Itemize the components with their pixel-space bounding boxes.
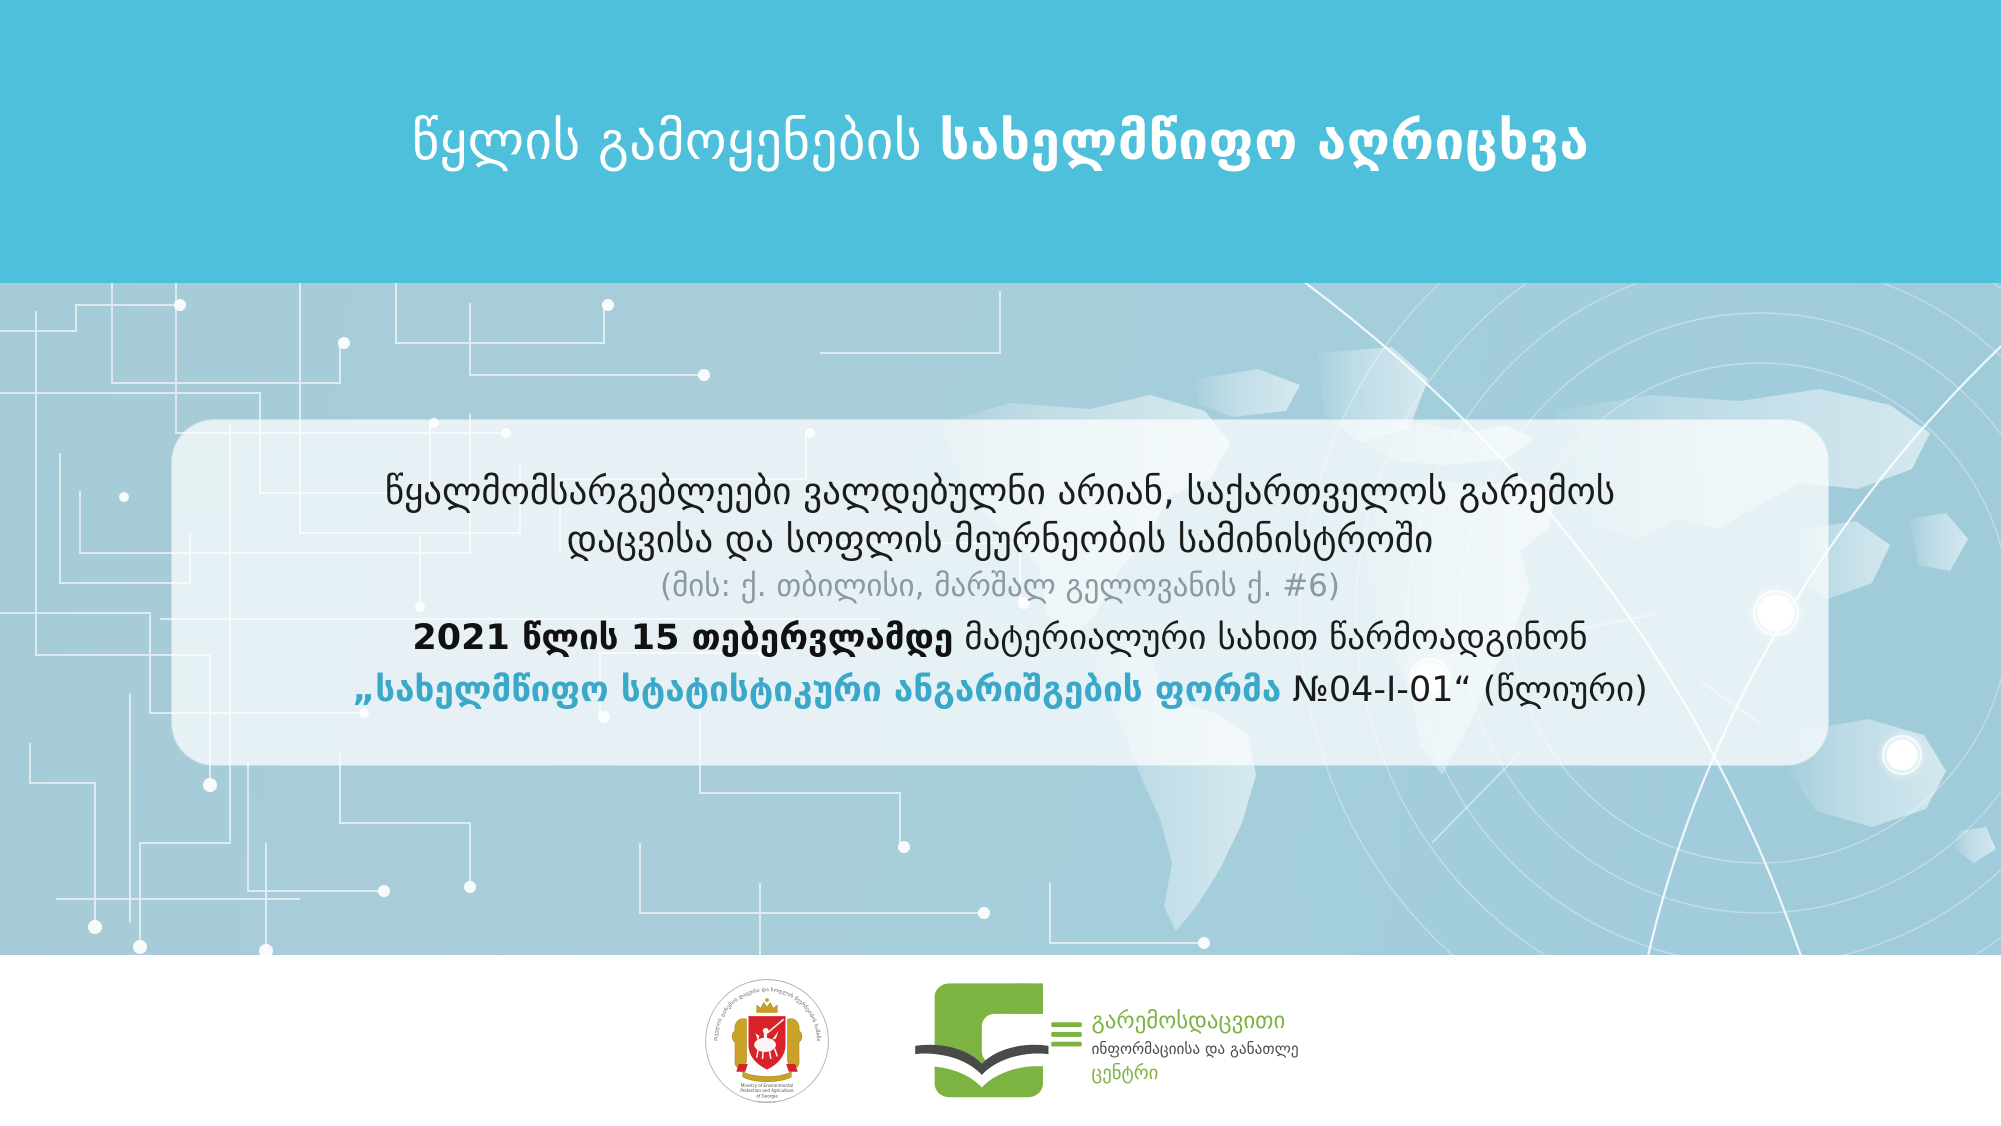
ministry-logo: საქართველოს გარემოს დაცვისა და სოფლის მე… — [703, 977, 831, 1105]
illustration-stage: წყალმომსარგებლეები ვალდებულნი არიან, საქ… — [0, 283, 2001, 955]
page-title-bold: სახელმწიფო აღრიცხვა — [939, 111, 1589, 172]
eiec-text-line3: ცენტრი — [1091, 1063, 1158, 1084]
header-band: წყლის გამოყენების სახელმწიფო აღრიცხვა — [0, 0, 2001, 283]
form-number: №04-I-01“ (წლიური) — [1281, 670, 1648, 710]
announcement-line-2: დაცვისა და სოფლის მეურნეობის სამინისტროშ… — [567, 516, 1434, 563]
page-title-light: წყლის გამოყენების — [412, 111, 940, 172]
deadline-rest: მატერიალური სახით წარმოადგინონ — [953, 618, 1587, 658]
ministry-url: mepa.gov.ge — [757, 1099, 776, 1103]
deadline-date: 2021 წლის 15 თებერვლამდე — [412, 618, 953, 658]
form-quote-open: „ — [352, 670, 375, 710]
ministry-caption-line1: Ministry of Environmental — [740, 1083, 792, 1088]
ministry-caption-line3: of Georgia — [756, 1093, 778, 1098]
announcement-card: წყალმომსარგებლეები ვალდებულნი არიან, საქ… — [172, 420, 1828, 765]
page-title: წყლის გამოყენების სახელმწიფო აღრიცხვა — [412, 115, 1590, 168]
slide-root: წყლის გამოყენების სახელმწიფო აღრიცხვა — [0, 0, 2001, 1126]
form-name: სახელმწიფო სტატისტიკური ანგარიშგების ფორ… — [375, 670, 1281, 710]
footer-logo-bar: საქართველოს გარემოს დაცვისა და სოფლის მე… — [0, 955, 2001, 1126]
eiec-text-line1: გარემოსდაცვითი — [1091, 1007, 1285, 1033]
announcement-address: (მის: ქ. თბილისი, მარშალ გელოვანის ქ. #6… — [660, 563, 1340, 610]
announcement-card-content: წყალმომსარგებლეები ვალდებულნი არიან, საქ… — [172, 420, 1828, 765]
announcement-form-reference: „სახელმწიფო სტატისტიკური ანგარიშგების ფო… — [352, 664, 1648, 717]
ministry-caption-line2: Protection and Agriculture — [740, 1088, 794, 1093]
eiec-logo: გარემოსდაცვითი ინფორმაციისა და განათლები… — [909, 982, 1299, 1100]
ministry-emblem-icon: საქართველოს გარემოს დაცვისა და სოფლის მე… — [703, 977, 831, 1105]
announcement-line-1: წყალმომსარგებლეები ვალდებულნი არიან, საქ… — [385, 468, 1615, 515]
announcement-deadline: 2021 წლის 15 თებერვლამდე მატერიალური სახ… — [412, 612, 1587, 665]
eiec-text-line2: ინფორმაციისა და განათლების — [1091, 1040, 1298, 1058]
eiec-logo-icon: გარემოსდაცვითი ინფორმაციისა და განათლები… — [909, 982, 1299, 1100]
